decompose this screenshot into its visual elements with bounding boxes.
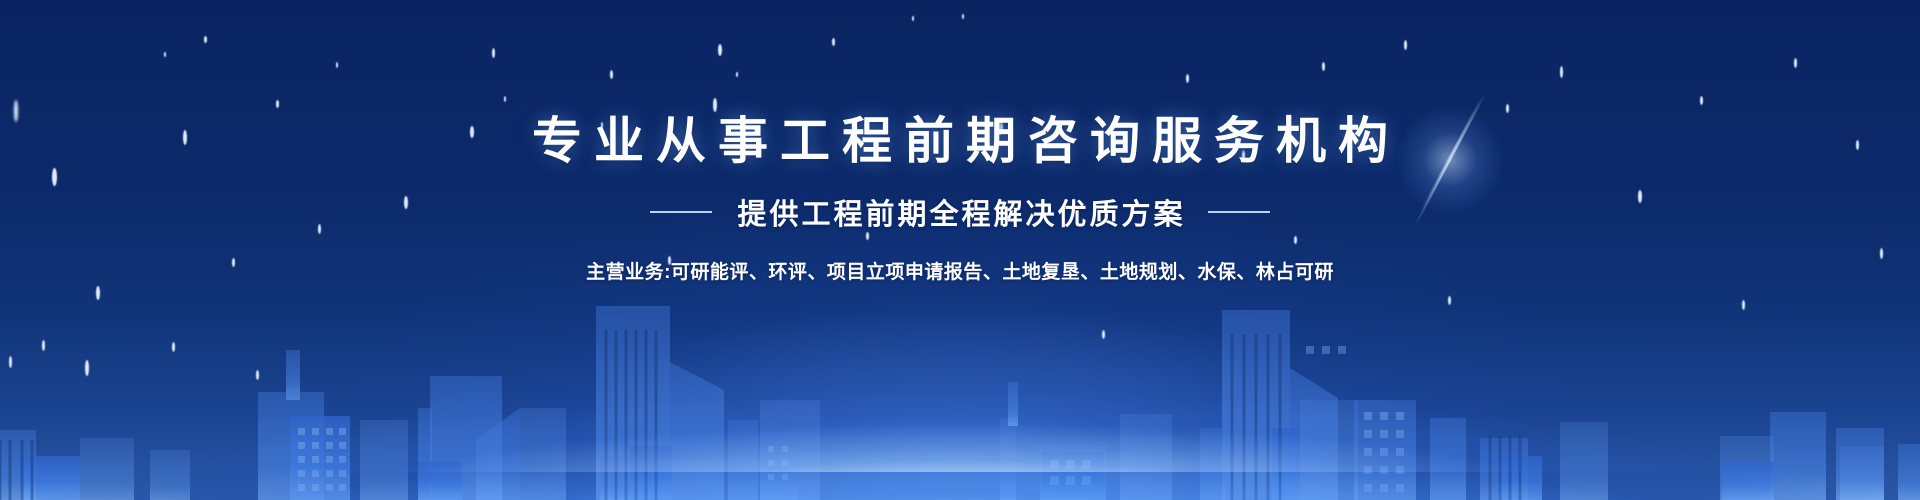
- horizon-light-streak: [0, 352, 1920, 472]
- hero-banner: 专业从事工程前期咨询服务机构 提供工程前期全程解决优质方案 主营业务:可研能评、…: [0, 0, 1920, 500]
- banner-subline: 提供工程前期全程解决优质方案: [734, 191, 1185, 233]
- earth-horizon-glow: [0, 330, 1920, 500]
- banner-subline-row: 提供工程前期全程解决优质方案: [0, 191, 1920, 233]
- banner-tagline: 主营业务:可研能评、环评、项目立项申请报告、土地复垦、土地规划、水保、林占可研: [0, 233, 1920, 284]
- star-particle: [172, 342, 175, 352]
- star-particle: [96, 286, 100, 300]
- star-particle: [256, 370, 259, 380]
- star-particle: [1742, 300, 1745, 310]
- banner-content: 专业从事工程前期咨询服务机构 提供工程前期全程解决优质方案 主营业务:可研能评、…: [0, 0, 1920, 284]
- star-particle: [9, 356, 12, 368]
- star-particle: [85, 360, 89, 376]
- rule-right-icon: [1208, 211, 1270, 213]
- rule-left-icon: [650, 211, 712, 213]
- star-particle: [42, 340, 45, 351]
- star-particle: [1448, 296, 1451, 305]
- banner-headline: 专业从事工程前期咨询服务机构: [0, 0, 1920, 173]
- city-skyline-silhouette: [0, 250, 1920, 500]
- star-particle: [1102, 330, 1105, 339]
